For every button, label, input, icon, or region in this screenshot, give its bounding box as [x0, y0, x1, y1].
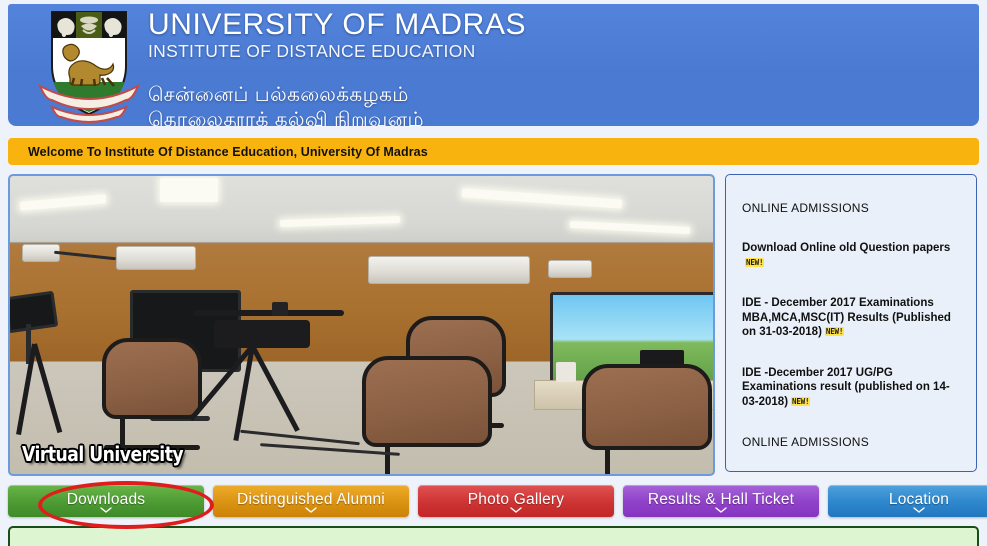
sidebar-item-dec2017-ugpg-results[interactable]: IDE -December 2017 UG/PG Examinations re…: [742, 366, 962, 410]
announcements-sidebar: ONLINE ADMISSIONS Download Online old Qu…: [725, 174, 977, 472]
ceiling-light: [20, 194, 106, 210]
chevron-down-icon: [305, 507, 317, 513]
main-nav-bar: Downloads Distinguished Alumni Photo Gal…: [8, 485, 979, 517]
wall-cable: [54, 251, 116, 260]
sidebar-item-dec2017-pg-results[interactable]: IDE - December 2017 Examinations MBA,MCA…: [742, 296, 962, 340]
ceiling-light: [160, 178, 218, 202]
nav-button-label: Distinguished Alumni: [237, 491, 385, 508]
nav-button-label: Results & Hall Ticket: [648, 491, 794, 508]
chevron-down-icon: [100, 507, 112, 513]
chair: [362, 356, 492, 476]
new-badge-icon: NEW!: [825, 327, 844, 336]
page-root: UNIVERSITY OF MADRAS INSTITUTE OF DISTAN…: [0, 4, 987, 533]
sidebar-item-label: IDE - December 2017 Examinations MBA,MCA…: [742, 297, 951, 338]
page-title-tamil-line1: சென்னைப் பல்கலைக்கழகம்: [148, 83, 526, 108]
virtual-university-photo: [10, 176, 713, 474]
nav-button-distinguished-alumni[interactable]: Distinguished Alumni: [213, 485, 409, 517]
sidebar-item-label: Download Online old Question papers: [742, 242, 950, 254]
tripod: [32, 343, 62, 433]
nav-button-results-hall-ticket[interactable]: Results & Hall Ticket: [623, 485, 819, 517]
nav-button-downloads[interactable]: Downloads: [8, 485, 204, 517]
new-badge-icon: NEW!: [791, 397, 810, 406]
ceiling-light: [280, 216, 400, 227]
air-conditioner: [548, 260, 592, 278]
sidebar-item-label: IDE -December 2017 UG/PG Examinations re…: [742, 367, 950, 408]
bottom-content-panel: [8, 526, 979, 546]
nav-button-label: Photo Gallery: [468, 491, 565, 508]
new-badge-icon: NEW!: [745, 258, 764, 267]
university-crest-icon: [30, 6, 148, 124]
chevron-down-icon: [913, 507, 925, 513]
air-conditioner: [368, 256, 530, 284]
side-monitor: [8, 291, 58, 334]
chevron-down-icon: [510, 507, 522, 513]
sidebar-footer-heading: ONLINE ADMISSIONS: [742, 435, 962, 449]
page-title-tamil-line2: தொலைதூரக் கல்வி நிறுவனம்: [148, 108, 526, 126]
chevron-down-icon: [715, 507, 727, 513]
nav-button-location[interactable]: Location: [828, 485, 987, 517]
chair: [582, 364, 712, 476]
hero-photo-panel[interactable]: Virtual University: [8, 174, 715, 476]
desk-device: [556, 362, 576, 382]
nav-button-photo-gallery[interactable]: Photo Gallery: [418, 485, 614, 517]
site-header: UNIVERSITY OF MADRAS INSTITUTE OF DISTAN…: [8, 4, 979, 126]
nav-button-label: Location: [889, 491, 949, 508]
video-camera-rig: [194, 302, 362, 440]
page-title: UNIVERSITY OF MADRAS: [148, 8, 526, 42]
header-title-block: UNIVERSITY OF MADRAS INSTITUTE OF DISTAN…: [148, 8, 526, 126]
photo-caption: Virtual University: [22, 442, 183, 466]
ceiling-light: [570, 221, 690, 234]
sidebar-item-question-papers[interactable]: Download Online old Question papers NEW!: [742, 241, 962, 270]
sidebar-heading: ONLINE ADMISSIONS: [742, 201, 962, 215]
welcome-banner-text: Welcome To Institute Of Distance Educati…: [28, 145, 428, 159]
welcome-banner: Welcome To Institute Of Distance Educati…: [8, 138, 979, 165]
content-row: Virtual University ONLINE ADMISSIONS Dow…: [8, 174, 979, 476]
ceiling-light: [462, 188, 622, 208]
air-conditioner: [116, 246, 196, 270]
page-subtitle: INSTITUTE OF DISTANCE EDUCATION: [148, 41, 526, 61]
nav-button-label: Downloads: [67, 491, 145, 508]
chair: [102, 338, 202, 450]
